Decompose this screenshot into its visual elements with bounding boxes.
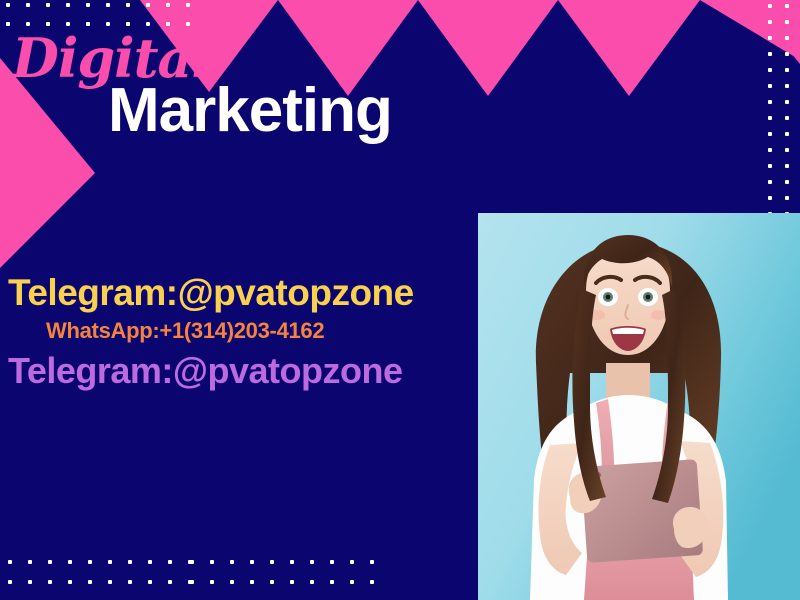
dot-grid-right [760,0,800,212]
decor-dot [190,580,194,584]
decor-dot [785,164,789,168]
telegram-handle-primary[interactable]: Telegram:@pvatopzone [8,272,478,314]
decor-dot [88,580,92,584]
decor-dot [768,132,772,136]
decor-dot [290,560,294,564]
decor-dot [370,580,374,584]
decor-dot [250,580,254,584]
decor-dot [290,580,294,584]
decor-dot [86,3,90,7]
decor-dot [785,52,789,56]
decor-dot [68,560,72,564]
decor-dot [126,3,130,7]
telegram-handle-secondary[interactable]: Telegram:@pvatopzone [8,350,478,392]
decor-dot [768,196,772,200]
headline-block: Digital Marketing [0,30,470,145]
decor-dot [6,3,10,7]
decor-dot [785,116,789,120]
decor-dot [768,36,772,40]
decor-dot [66,3,70,7]
decor-dot [6,22,10,26]
decor-dot [785,4,789,8]
decor-dot [785,196,789,200]
decor-dot [785,84,789,88]
decor-dot [68,580,72,584]
woman-with-tablet-illustration [478,213,800,600]
decor-dot [270,560,274,564]
decor-dot [768,116,772,120]
decor-dot [166,3,170,7]
decor-dot [768,52,772,56]
decor-dot [108,580,112,584]
decor-dot [350,560,354,564]
decor-dot [768,4,772,8]
decor-dot [8,580,12,584]
decor-dot [128,560,132,564]
decor-dot [48,560,52,564]
decor-dot [186,3,190,7]
decor-dot [168,560,172,564]
decor-dot [146,3,150,7]
dot-grid-bottom-left [0,556,400,596]
decor-dot [28,560,32,564]
decor-dot [230,580,234,584]
decor-dot [148,560,152,564]
decor-dot [270,580,274,584]
decor-dot [210,580,214,584]
decor-dot [768,164,772,168]
decor-dot [768,20,772,24]
decor-dot [26,3,30,7]
decor-dot [785,132,789,136]
model-photo [478,213,800,600]
decor-dot [785,36,789,40]
decor-dot [768,68,772,72]
decor-dot [785,100,789,104]
decor-dot [210,560,214,564]
decor-dot [108,560,112,564]
decor-dot [768,100,772,104]
contact-block: Telegram:@pvatopzone WhatsApp:+1(314)203… [0,272,478,392]
decor-dot [310,560,314,564]
decor-dot [230,560,234,564]
decor-dot [46,3,50,7]
decor-dot [785,180,789,184]
decor-dot [310,580,314,584]
decor-dot [370,560,374,564]
decor-dot [768,180,772,184]
page-title: Marketing [108,77,470,145]
decor-dot [106,3,110,7]
decor-dot [250,560,254,564]
decor-dot [8,560,12,564]
decor-dot [768,84,772,88]
decor-dot [28,580,32,584]
decor-dot [785,68,789,72]
decor-dot [128,580,132,584]
digital-marketing-banner: Digital Marketing Telegram:@pvatopzone W… [0,0,800,600]
decor-dot [330,580,334,584]
decor-dot [190,560,194,564]
decor-dot [785,148,789,152]
decor-dot [88,560,92,564]
whatsapp-phone-number[interactable]: WhatsApp:+1(314)203-4162 [46,318,478,344]
decor-dot [785,20,789,24]
decor-dot [168,580,172,584]
decor-dot [48,580,52,584]
decor-dot [768,148,772,152]
decor-dot [350,580,354,584]
decor-dot [148,580,152,584]
decor-dot [330,560,334,564]
